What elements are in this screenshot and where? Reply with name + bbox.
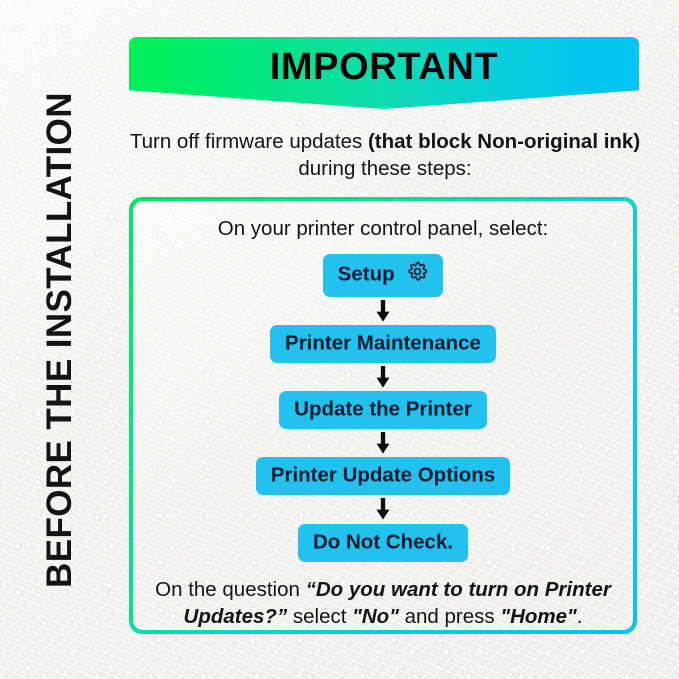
instruction-panel: On your printer control panel, select: S… [133, 201, 633, 630]
panel-footer-text: On the question “Do you want to turn on … [143, 576, 623, 631]
step-chip-printer-maintenance[interactable]: Printer Maintenance [270, 325, 496, 363]
banner-label: IMPORTANT [270, 46, 498, 89]
footer-part3: and press [399, 605, 500, 628]
intro-text-part1: Turn off firmware updates [130, 130, 368, 153]
instruction-panel-border: On your printer control panel, select: S… [129, 197, 637, 634]
footer-quote-home: "Home" [500, 605, 576, 628]
gear-icon [407, 261, 428, 287]
step-chip-printer-update-options[interactable]: Printer Update Options [256, 457, 510, 495]
footer-quote-no: "No" [352, 605, 399, 628]
important-banner: IMPORTANT [129, 37, 639, 109]
footer-part2: select [287, 605, 352, 628]
step-chip-label: Setup [338, 263, 395, 286]
step-chip-do-not-check[interactable]: Do Not Check. [298, 524, 468, 562]
intro-paragraph: Turn off firmware updates (that block No… [127, 128, 643, 182]
panel-content: On your printer control panel, select: S… [133, 201, 633, 630]
footer-part1: On the question [155, 578, 305, 601]
side-title-text: BEFORE THE INSTALLATION [40, 92, 80, 588]
flow-arrow-icon [374, 300, 392, 322]
step-chip-update-the-printer[interactable]: Update the Printer [279, 391, 487, 429]
panel-heading: On your printer control panel, select: [218, 217, 548, 241]
step-chip-label: Do Not Check. [313, 530, 453, 553]
vertical-side-title: BEFORE THE INSTALLATION [0, 0, 120, 679]
step-chip-label: Printer Update Options [271, 464, 495, 487]
step-chip-label: Update the Printer [294, 398, 472, 421]
intro-text-bold: (that block Non-original ink) [368, 130, 640, 153]
intro-text-part2: during these steps: [298, 157, 471, 180]
content-column: IMPORTANT Turn off firmware updates (tha… [127, 0, 643, 679]
footer-part4: . [577, 605, 583, 628]
step-chip-label: Printer Maintenance [285, 331, 481, 354]
flow-arrow-icon [374, 498, 392, 520]
step-chip-setup[interactable]: Setup [323, 254, 444, 297]
flow-arrow-icon [374, 432, 392, 454]
flow-arrow-icon [374, 366, 392, 388]
poster-root: BEFORE THE INSTALLATION IMPORTANT Turn o… [0, 0, 679, 679]
